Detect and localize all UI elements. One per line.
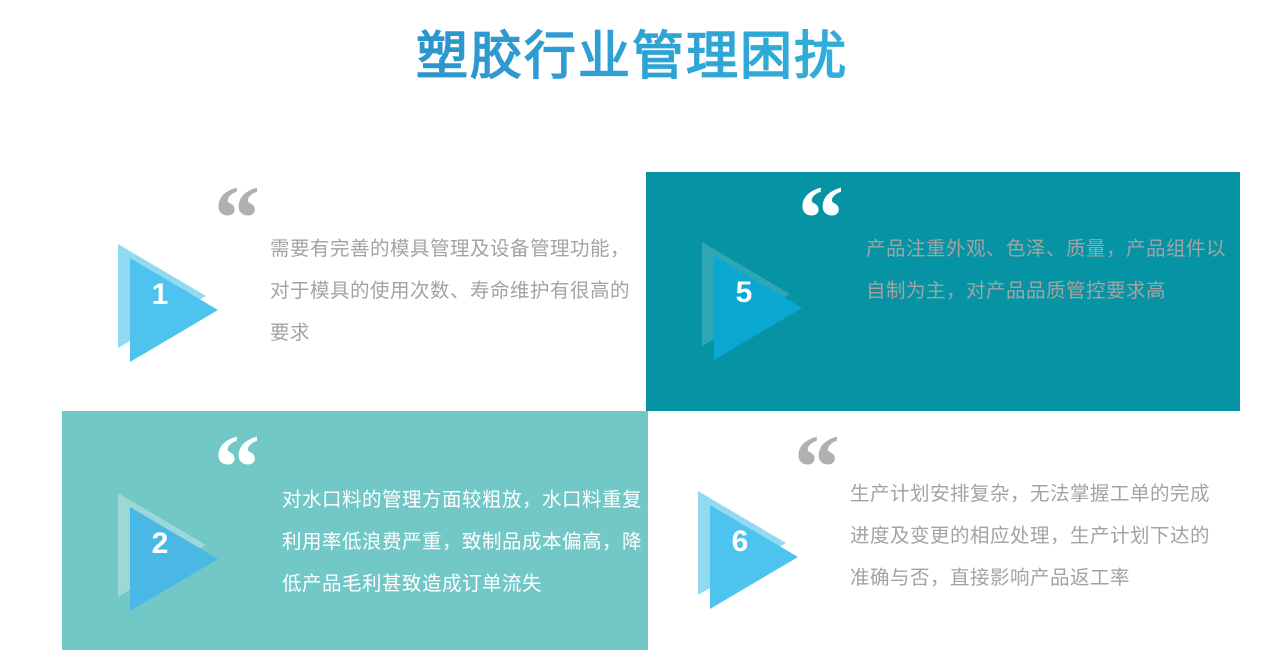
card-body-text-2: 对水口料的管理方面较粗放，水口料重复利用率低浪费严重，致制品成本偏高，降低产品毛…: [282, 479, 644, 605]
card-number-6: 6: [722, 525, 758, 559]
issue-card-5[interactable]: 5 “ 产品注重外观、色泽、质量，产品组件以自制为主，对产品品质管控要求高: [646, 172, 1240, 411]
arrow-badge-icon-1: 1: [118, 244, 222, 350]
card-body-text-6: 生产计划安排复杂，无法掌握工单的完成进度及变更的相应处理，生产计划下达的准确与否…: [850, 473, 1212, 599]
quote-open-icon-2: “: [214, 421, 261, 513]
page-title: 塑胶行业管理困扰: [0, 22, 1264, 92]
issue-card-2[interactable]: 2 “ 对水口料的管理方面较粗放，水口料重复利用率低浪费严重，致制品成本偏高，降…: [62, 411, 648, 650]
card-number-5: 5: [726, 276, 762, 310]
issue-card-6[interactable]: 6 “ 生产计划安排复杂，无法掌握工单的完成进度及变更的相应处理，生产计划下达的…: [690, 411, 1250, 650]
issue-card-1[interactable]: 1 “ 需要有完善的模具管理及设备管理功能，对于模具的使用次数、寿命维护有很高的…: [110, 172, 650, 411]
card-body-text-5: 产品注重外观、色泽、质量，产品组件以自制为主，对产品品质管控要求高: [866, 228, 1228, 312]
card-number-1: 1: [142, 278, 178, 312]
card-number-2: 2: [142, 527, 178, 561]
card-body-text-1: 需要有完善的模具管理及设备管理功能，对于模具的使用次数、寿命维护有很高的要求: [270, 228, 632, 354]
arrow-badge-icon-6: 6: [698, 491, 802, 597]
slide-canvas: 塑胶行业管理困扰 1 “ 需要有完善的模具管理及设备管理功能，对于模具的使用次数…: [0, 0, 1264, 650]
arrow-badge-icon-5: 5: [702, 242, 806, 348]
quote-open-icon-5: “: [798, 172, 845, 264]
quote-open-icon-1: “: [214, 172, 261, 264]
quote-open-icon-6: “: [794, 421, 841, 513]
arrow-badge-icon-2: 2: [118, 493, 222, 599]
